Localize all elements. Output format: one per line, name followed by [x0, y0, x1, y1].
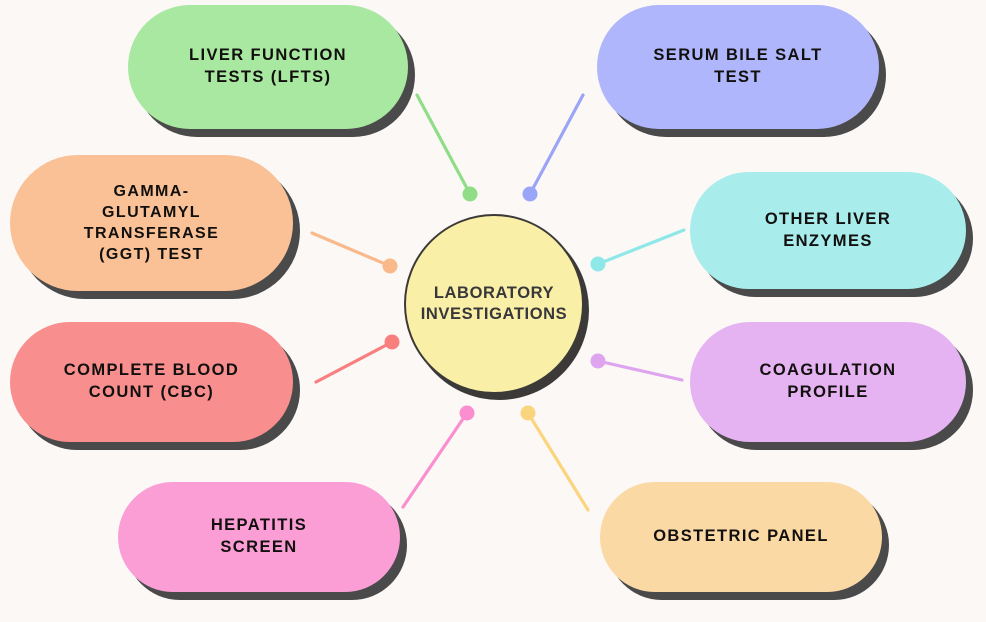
connector-complete-blood-count: [316, 342, 392, 382]
connector-hepatitis-screen: [403, 413, 467, 507]
connector-gamma-glutamyl-transferase-test: [312, 233, 390, 266]
connector-coagulation-profile: [598, 361, 682, 380]
node-serum-bile-salt-test[interactable]: SERUM BILE SALT TEST: [597, 5, 879, 129]
connector-gamma-glutamyl-transferase-test-dot: [383, 259, 398, 274]
center-node-label: LABORATORY INVESTIGATIONS: [421, 283, 568, 326]
node-obstetric-panel[interactable]: OBSTETRIC PANEL: [600, 482, 882, 592]
connector-liver-function-tests: [417, 95, 470, 194]
node-other-liver-enzymes[interactable]: OTHER LIVER ENZYMES: [690, 172, 966, 289]
connector-coagulation-profile-dot: [591, 354, 606, 369]
node-label-obstetric-panel: OBSTETRIC PANEL: [635, 526, 847, 548]
connector-hepatitis-screen-dot: [460, 406, 475, 421]
connector-serum-bile-salt-test-dot: [523, 187, 538, 202]
node-liver-function-tests[interactable]: LIVER FUNCTION TESTS (LFTS): [128, 5, 408, 129]
connector-obstetric-panel: [528, 413, 588, 510]
connector-other-liver-enzymes-dot: [591, 257, 606, 272]
node-label-hepatitis-screen: HEPATITIS SCREEN: [193, 515, 325, 559]
node-label-complete-blood-count: COMPLETE BLOOD COUNT (CBC): [46, 360, 257, 404]
diagram-canvas: LIVER FUNCTION TESTS (LFTS) SERUM BILE S…: [0, 0, 986, 622]
connector-complete-blood-count-dot: [385, 335, 400, 350]
node-label-coagulation-profile: COAGULATION PROFILE: [742, 360, 915, 404]
node-complete-blood-count[interactable]: COMPLETE BLOOD COUNT (CBC): [10, 322, 293, 442]
connector-other-liver-enzymes: [598, 230, 684, 264]
node-label-liver-function-tests: LIVER FUNCTION TESTS (LFTS): [171, 45, 365, 89]
node-label-gamma-glutamyl-transferase-test: GAMMA- GLUTAMYL TRANSFERASE (GGT) TEST: [66, 181, 237, 265]
node-hepatitis-screen[interactable]: HEPATITIS SCREEN: [118, 482, 400, 592]
node-gamma-glutamyl-transferase-test[interactable]: GAMMA- GLUTAMYL TRANSFERASE (GGT) TEST: [10, 155, 293, 291]
node-label-other-liver-enzymes: OTHER LIVER ENZYMES: [747, 209, 909, 253]
center-node-laboratory-investigations[interactable]: LABORATORY INVESTIGATIONS: [404, 214, 584, 394]
connector-obstetric-panel-dot: [521, 406, 536, 421]
node-label-serum-bile-salt-test: SERUM BILE SALT TEST: [635, 45, 840, 89]
connector-serum-bile-salt-test: [530, 95, 583, 194]
node-coagulation-profile[interactable]: COAGULATION PROFILE: [690, 322, 966, 442]
connector-liver-function-tests-dot: [463, 187, 478, 202]
